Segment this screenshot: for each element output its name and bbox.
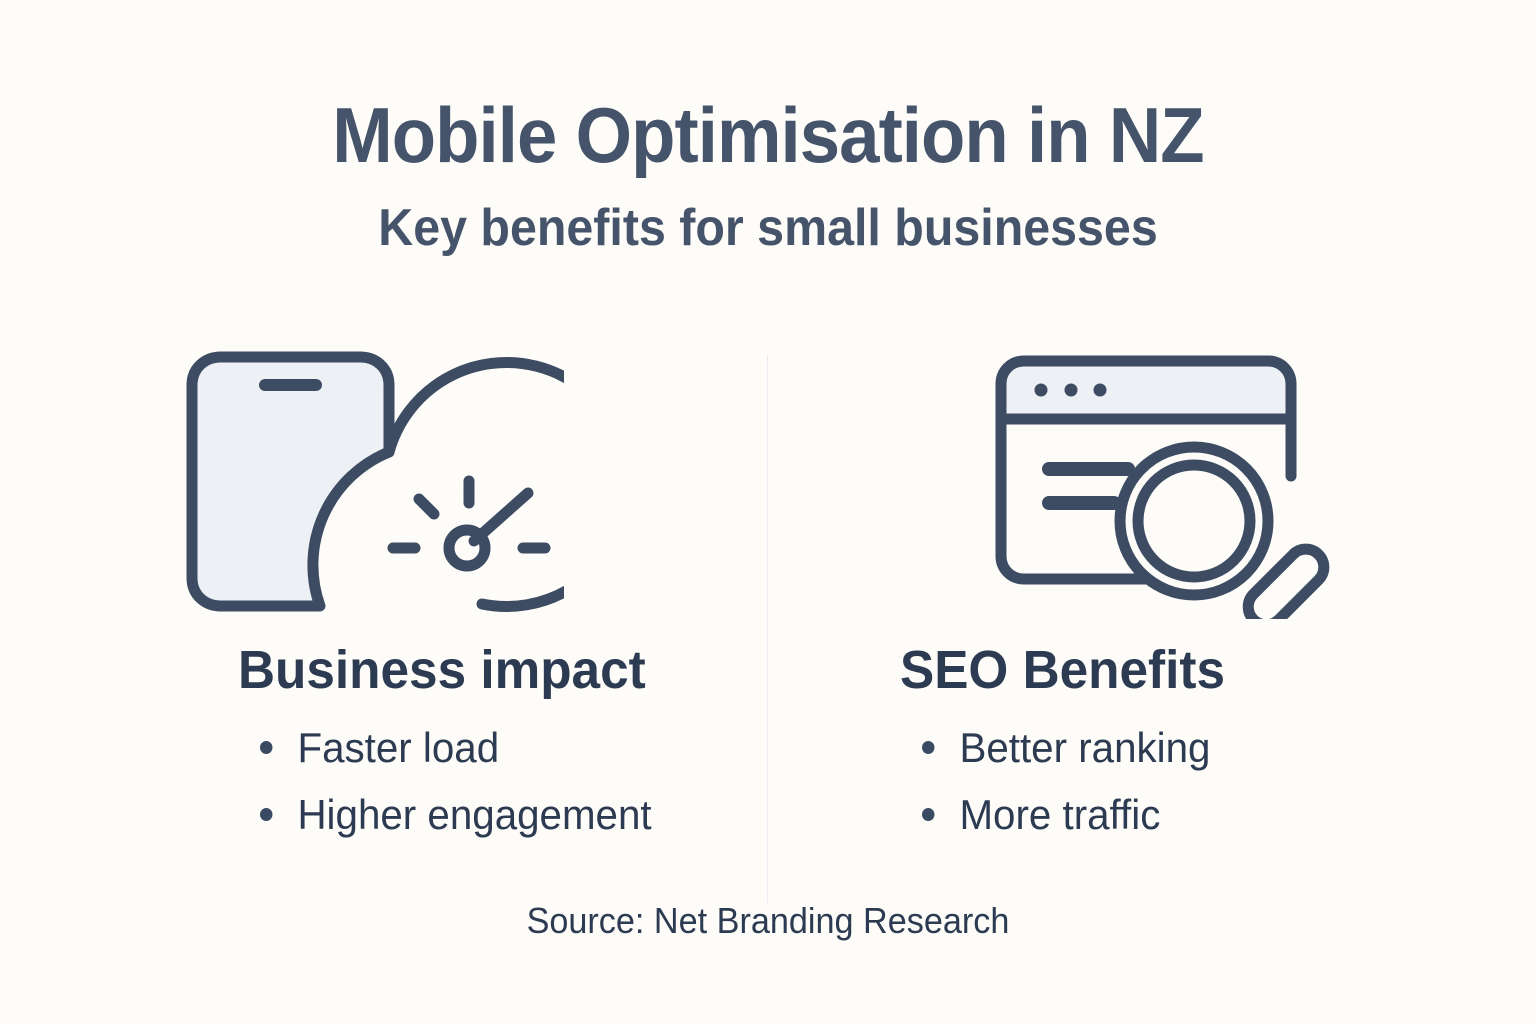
list-item-label: More traffic — [959, 792, 1160, 837]
list-item: Higher engagement — [260, 792, 748, 837]
list-item-label: Faster load — [297, 725, 499, 770]
infographic-canvas: Mobile Optimisation in NZ Key benefits f… — [0, 0, 1536, 1024]
mobile-speed-gauge-svg — [164, 351, 564, 619]
column-body-business-impact: Business impact Faster load Higher engag… — [0, 642, 768, 859]
list-item-label: Better ranking — [959, 725, 1210, 770]
bullet-list-seo-benefits: Better ranking More traffic — [900, 725, 1536, 838]
column-business-impact: Business impact Faster load Higher engag… — [0, 342, 768, 912]
list-item: Faster load — [260, 725, 748, 770]
source-note: Source: Net Branding Research — [38, 900, 1497, 942]
column-heading-seo-benefits: SEO Benefits — [900, 642, 1504, 699]
bullet-dot-icon — [922, 808, 934, 821]
bullet-list-business-impact: Faster load Higher engagement — [238, 725, 768, 838]
mobile-speed-gauge-icon — [0, 350, 768, 620]
page-title: Mobile Optimisation in NZ — [54, 96, 1482, 176]
columns-container: Business impact Faster load Higher engag… — [0, 342, 1536, 912]
column-divider — [767, 355, 768, 903]
bullet-dot-icon — [260, 808, 272, 821]
bullet-dot-icon — [260, 741, 272, 754]
bullet-dot-icon — [922, 741, 934, 754]
column-heading-business-impact: Business impact — [238, 642, 742, 699]
column-body-seo-benefits: SEO Benefits Better ranking More traffic — [768, 642, 1536, 859]
list-item-label: Higher engagement — [297, 792, 651, 837]
header: Mobile Optimisation in NZ Key benefits f… — [0, 96, 1536, 257]
browser-magnifier-icon — [768, 350, 1536, 620]
browser-magnifier-svg — [987, 351, 1357, 619]
list-item: Better ranking — [922, 725, 1511, 770]
column-seo-benefits: SEO Benefits Better ranking More traffic — [768, 342, 1536, 912]
page-subtitle: Key benefits for small businesses — [54, 200, 1482, 257]
list-item: More traffic — [922, 792, 1511, 837]
